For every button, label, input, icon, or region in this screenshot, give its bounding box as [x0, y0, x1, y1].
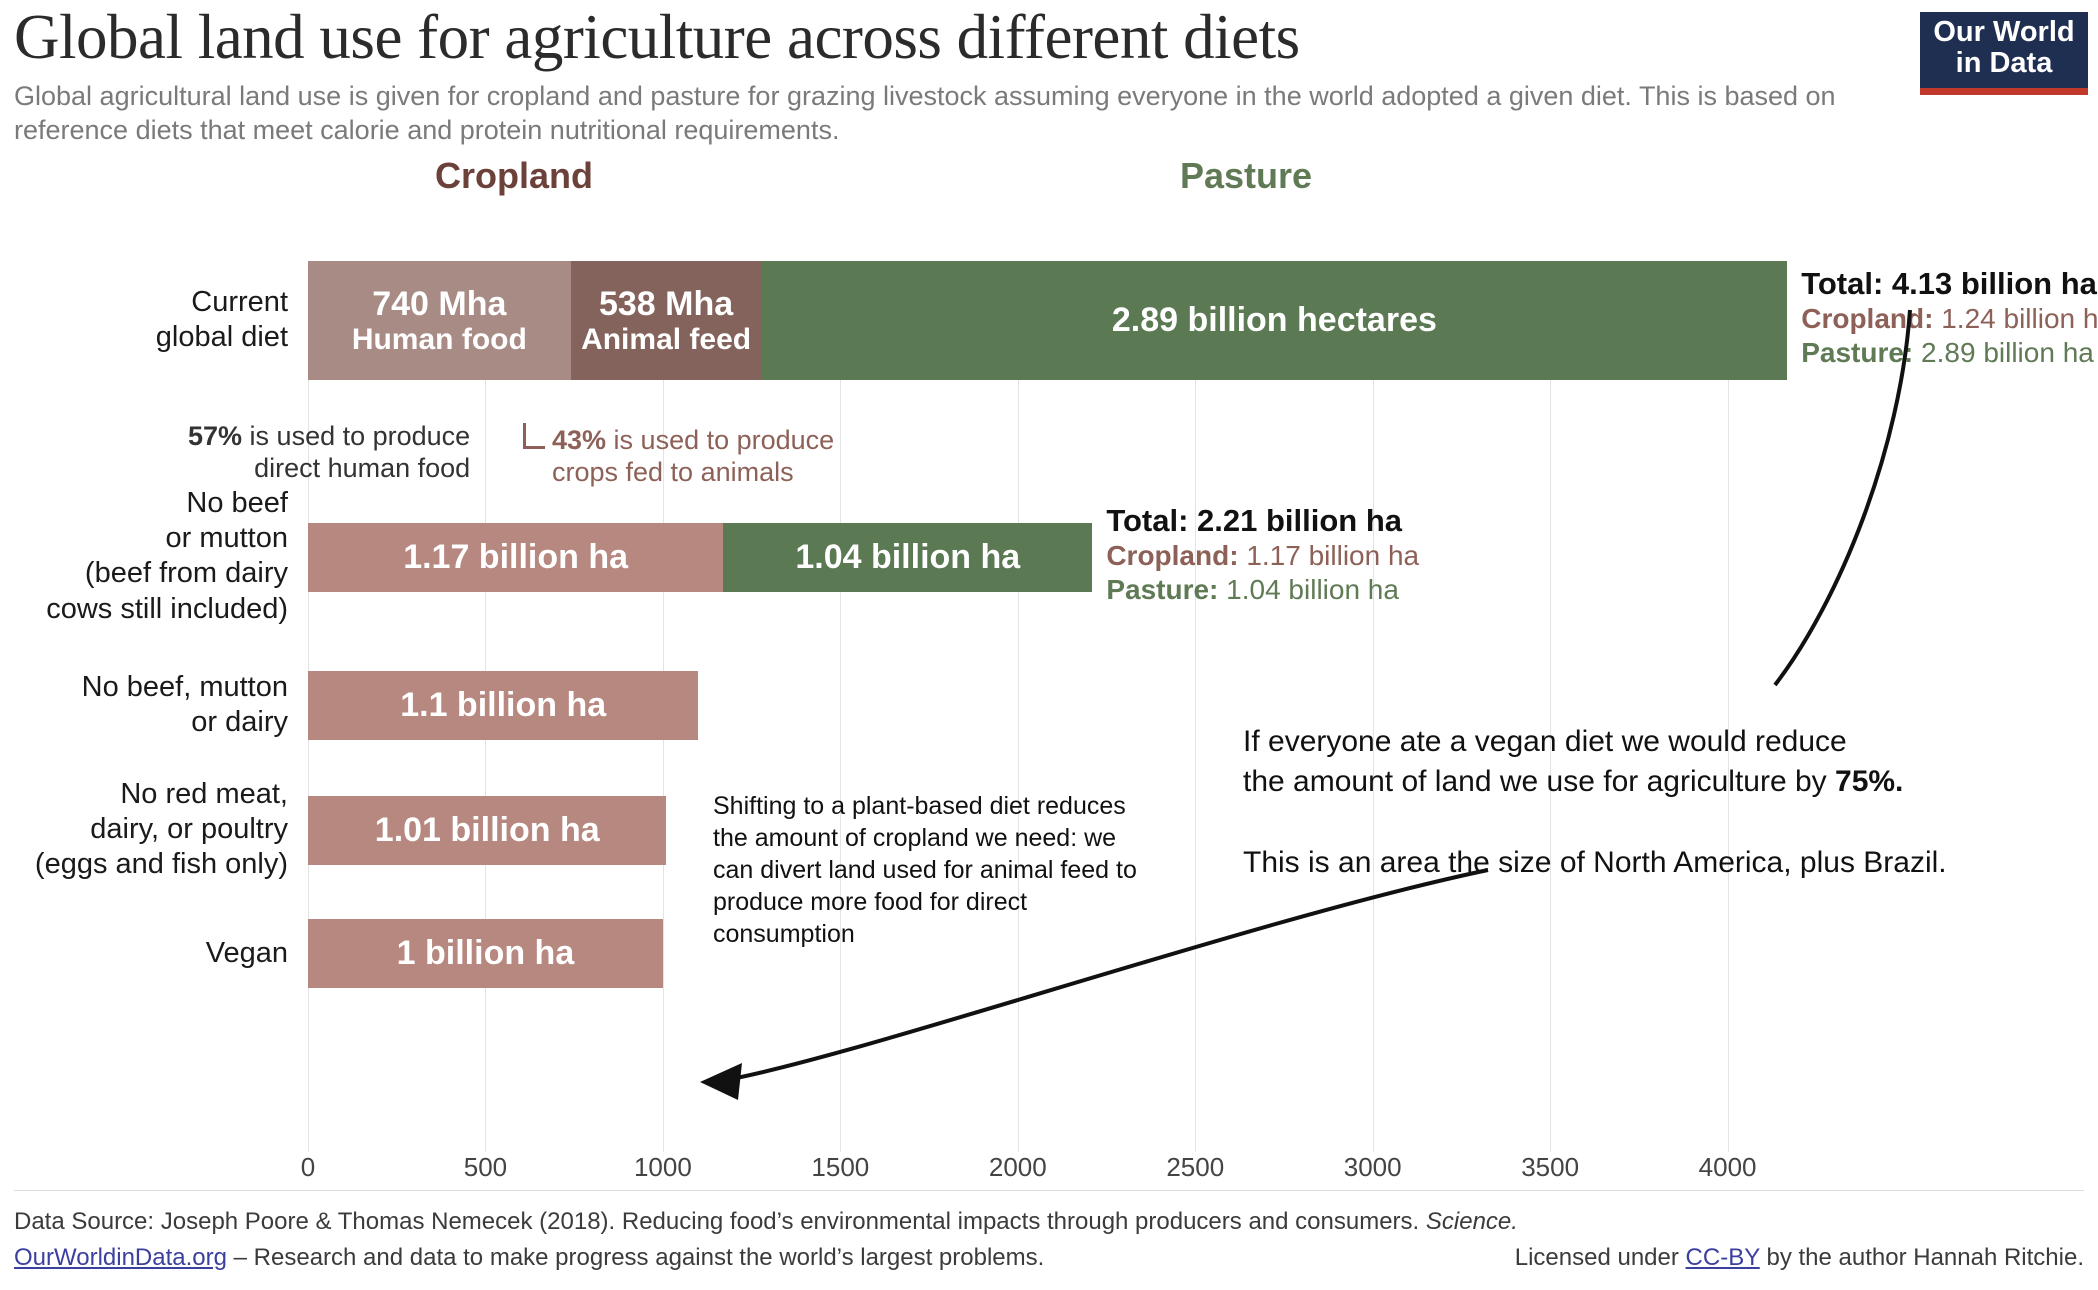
pct-left-rest: is used to produce: [242, 421, 470, 451]
pct-right-rest: is used to produce: [606, 425, 834, 455]
annotation-vegan-note: If everyone ate a vegan diet we would re…: [1243, 722, 1947, 883]
total-cropland: Cropland: 1.24 billion ha: [1801, 302, 2098, 336]
totals-current-global-diet: Total: 4.13 billion haCropland: 1.24 bil…: [1801, 265, 2098, 371]
bar-segment[interactable]: 2.89 billion hectares: [762, 261, 1788, 380]
total-pasture: Pasture: 1.04 billion ha: [1106, 573, 1419, 607]
cropland-label: Cropland:: [1801, 303, 1933, 334]
x-axis-tick-label: 500: [464, 1152, 507, 1183]
category-label-line: No red meat,: [20, 777, 288, 812]
x-axis-tick-label: 3500: [1521, 1152, 1579, 1183]
pct-left-bold: 57%: [188, 421, 242, 451]
bar-segment[interactable]: 1.04 billion ha: [723, 523, 1092, 592]
annotation-elbow-connector: [523, 423, 545, 449]
category-label-line: cows still included): [20, 592, 288, 627]
category-label-current-global-diet: Currentglobal diet: [20, 285, 288, 356]
bar-segment-value: 1 billion ha: [397, 934, 575, 972]
cropland-value: 1.17 billion ha: [1239, 540, 1420, 571]
x-axis-tick-label: 4000: [1699, 1152, 1757, 1183]
license-post: by the author Hannah Ritchie.: [1760, 1244, 2084, 1271]
category-label-line: No beef, mutton: [20, 670, 288, 705]
gridline: [1373, 262, 1374, 1152]
x-axis-tick-label: 0: [301, 1152, 315, 1183]
x-axis-tick-label: 3000: [1344, 1152, 1402, 1183]
category-label-vegan: Vegan: [20, 936, 288, 971]
category-label-line: global diet: [20, 320, 288, 355]
vegan-note-bold-75: 75%.: [1835, 765, 1903, 798]
category-label-no-red-meat-dairy-or-poultry: No red meat,dairy, or poultry(eggs and f…: [20, 777, 288, 883]
bar-segment[interactable]: 1.1 billion ha: [308, 671, 698, 740]
category-label-no-beef-mutton-or-dairy: No beef, muttonor dairy: [20, 670, 288, 741]
category-label-line: (eggs and fish only): [20, 847, 288, 882]
gridlines: [0, 0, 2098, 1290]
pasture-label: Pasture:: [1801, 337, 1913, 368]
bar-segment-value: 538 Mha: [599, 285, 733, 323]
footer-site-rest: – Research and data to make progress aga…: [227, 1244, 1044, 1271]
bar-segment[interactable]: 538 MhaAnimal feed: [571, 261, 762, 380]
pasture-value: 2.89 billion ha: [1913, 337, 2094, 368]
total-value: Total: 4.13 billion ha: [1801, 265, 2098, 303]
annotation-plant-based-note: Shifting to a plant-based diet reduces t…: [713, 790, 1143, 950]
bar-segment-value: 740 Mha: [372, 285, 506, 323]
gridline: [840, 262, 841, 1152]
bar-segment-sublabel: Human food: [352, 323, 527, 357]
category-label-line: or mutton: [20, 521, 288, 556]
category-label-line: No beef: [20, 486, 288, 521]
pct-right-line2: crops fed to animals: [552, 456, 834, 488]
pct-left-line2: direct human food: [188, 452, 470, 484]
footer-source-journal: Science.: [1426, 1208, 1518, 1235]
pct-right-bold: 43%: [552, 425, 606, 455]
owid-site-link[interactable]: OurWorldinData.org: [14, 1244, 227, 1271]
cc-by-link[interactable]: CC-BY: [1686, 1244, 1760, 1271]
total-pasture: Pasture: 2.89 billion ha: [1801, 336, 2098, 370]
bar-segment-value: 1.17 billion ha: [403, 538, 628, 576]
cropland-label: Cropland:: [1106, 540, 1238, 571]
x-axis-tick-label: 1000: [634, 1152, 692, 1183]
pasture-label: Pasture:: [1106, 574, 1218, 605]
footer-source-line: Data Source: Joseph Poore & Thomas Nemec…: [14, 1204, 2084, 1240]
category-label-no-beef-or-mutton: No beefor mutton(beef from dairycows sti…: [20, 486, 288, 628]
category-label-line: (beef from dairy: [20, 556, 288, 591]
bar-segment[interactable]: 1 billion ha: [308, 919, 663, 988]
x-axis: 05001000150020002500300035004000: [0, 1152, 2098, 1192]
category-label-line: or dairy: [20, 705, 288, 740]
license-pre: Licensed under: [1515, 1244, 1686, 1271]
bar-segment[interactable]: 740 MhaHuman food: [308, 261, 571, 380]
bar-segment-value: 1.04 billion ha: [795, 538, 1020, 576]
vegan-note-line-1: If everyone ate a vegan diet we would re…: [1243, 725, 1847, 758]
vegan-note-paragraph-2: This is an area the size of North Americ…: [1243, 843, 1947, 883]
footer: Data Source: Joseph Poore & Thomas Nemec…: [14, 1204, 2084, 1276]
annotation-43-percent: 43% is used to produce crops fed to anim…: [552, 424, 834, 489]
series-header-cropland: Cropland: [435, 155, 593, 197]
bar-segment-value: 1.01 billion ha: [375, 811, 600, 849]
x-axis-tick-label: 1500: [811, 1152, 869, 1183]
vegan-note-paragraph-1: If everyone ate a vegan diet we would re…: [1243, 722, 1947, 801]
cropland-value: 1.24 billion ha: [1933, 303, 2098, 334]
x-axis-tick-label: 2500: [1166, 1152, 1224, 1183]
gridline: [1195, 262, 1196, 1152]
total-value: Total: 2.21 billion ha: [1106, 502, 1419, 540]
chart-plot-area: Cropland Pasture 740 MhaHuman food538 Mh…: [0, 0, 2098, 1290]
category-label-line: dairy, or poultry: [20, 812, 288, 847]
bar-segment-value: 1.1 billion ha: [400, 686, 606, 724]
bar-segment[interactable]: 1.01 billion ha: [308, 796, 666, 865]
vegan-note-line-2: the amount of land we use for agricultur…: [1243, 765, 1835, 798]
category-label-line: Vegan: [20, 936, 288, 971]
gridline: [1728, 262, 1729, 1152]
total-cropland: Cropland: 1.17 billion ha: [1106, 539, 1419, 573]
totals-no-beef-or-mutton: Total: 2.21 billion haCropland: 1.17 bil…: [1106, 502, 1419, 608]
footer-divider: [14, 1190, 2084, 1191]
x-axis-tick-label: 2000: [989, 1152, 1047, 1183]
footer-license-group: Licensed under CC-BY by the author Hanna…: [1515, 1240, 2084, 1276]
footer-site-line: OurWorldinData.org – Research and data t…: [14, 1240, 2084, 1276]
footer-source-text: Data Source: Joseph Poore & Thomas Nemec…: [14, 1208, 1426, 1235]
category-label-line: Current: [20, 285, 288, 320]
gridline: [1550, 262, 1551, 1152]
footer-left-group: OurWorldinData.org – Research and data t…: [14, 1240, 1044, 1276]
bar-segment-sublabel: Animal feed: [581, 323, 751, 357]
pasture-value: 1.04 billion ha: [1218, 574, 1399, 605]
series-header-pasture: Pasture: [1180, 155, 1312, 197]
bar-segment-value: 2.89 billion hectares: [1112, 301, 1437, 339]
gridline: [1018, 262, 1019, 1152]
bar-segment[interactable]: 1.17 billion ha: [308, 523, 723, 592]
annotation-57-percent: 57% is used to produce direct human food: [188, 420, 470, 485]
